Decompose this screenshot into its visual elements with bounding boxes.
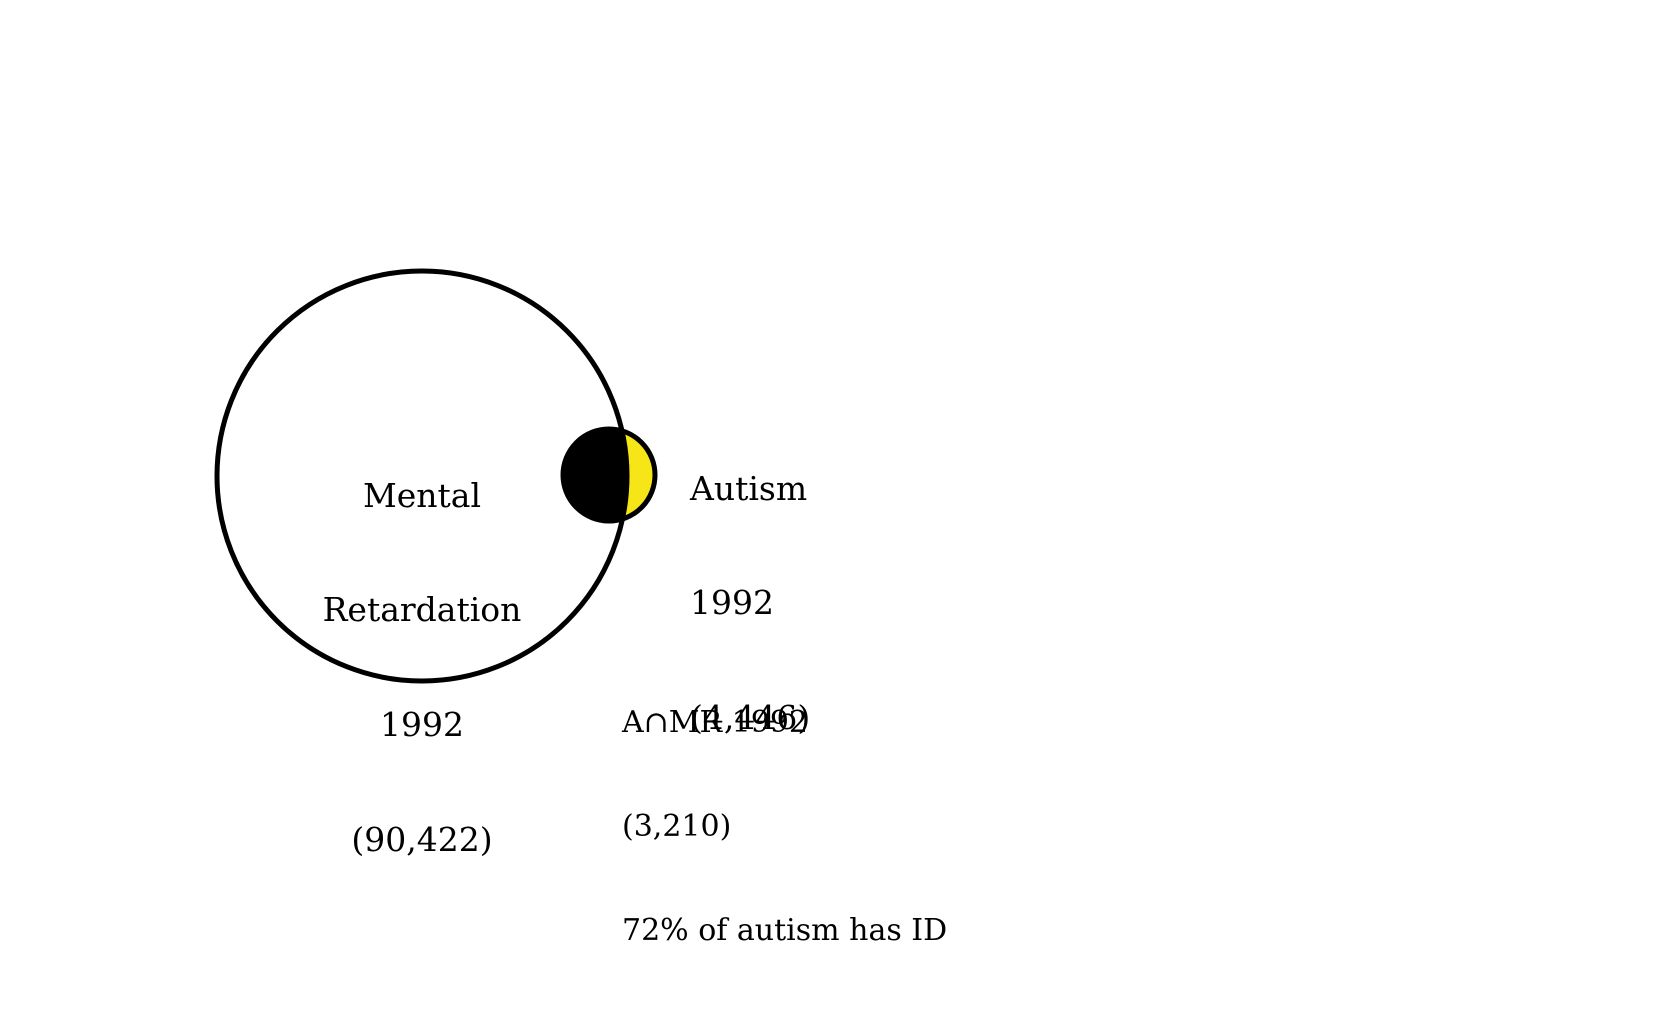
mental-retardation-label-year: 1992 [222,706,622,744]
venn-diagram-canvas: Mental Retardation 1992 (90,422) Autism … [0,0,1680,960]
intersection-label: A∩MR 1992 (3,210) 72% of autism has ID [622,636,947,1019]
mental-retardation-label-count: (90,422) [222,821,622,859]
autism-label-year: 1992 [690,584,810,622]
autism-label-line-1: Autism [690,470,810,508]
intersection-label-line-1: A∩MR 1992 [622,706,947,741]
intersection-label-percent: 72% of autism has ID [622,914,947,949]
mental-retardation-label: Mental Retardation 1992 (90,422) [222,400,622,936]
mental-retardation-label-line-1: Mental [222,477,622,515]
mental-retardation-label-line-2: Retardation [222,591,622,629]
intersection-label-count: (3,210) [622,810,947,845]
